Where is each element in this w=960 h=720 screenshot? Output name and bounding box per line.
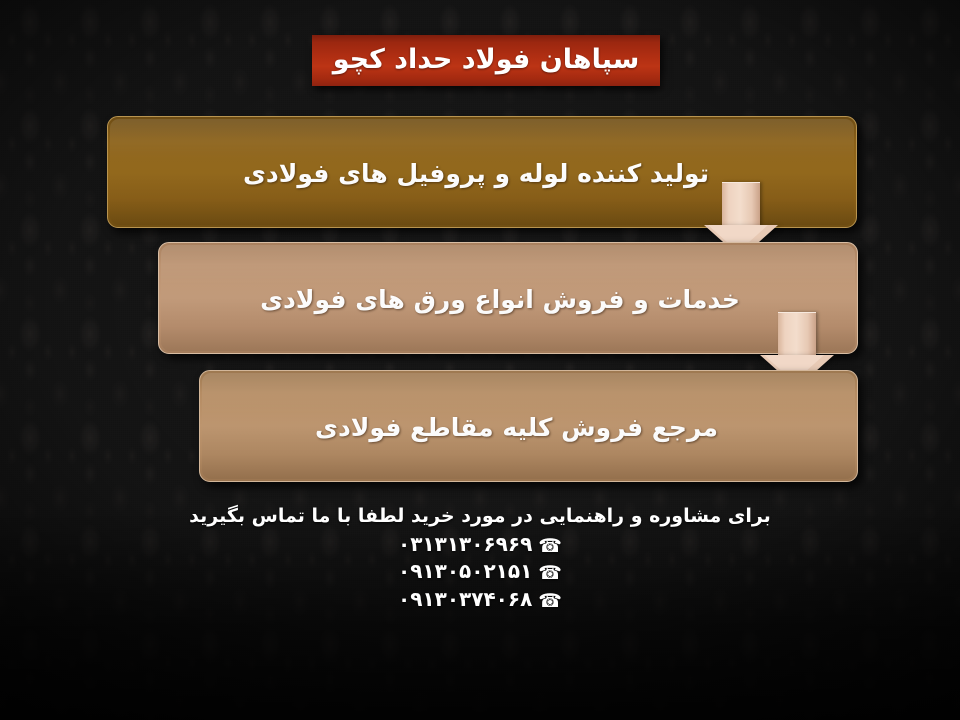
content-bar-3-label: مرجع فروش کلیه مقاطع فولادی bbox=[315, 414, 718, 443]
phone-number-item-2: ۰۹۱۳۰۵۰۲۱۵۱☎ bbox=[0, 558, 960, 586]
phone-number-item-3: ۰۹۱۳۰۳۷۴۰۶۸☎ bbox=[0, 586, 960, 614]
arrow-shaft bbox=[778, 312, 816, 356]
phone-number-list: ۰۳۱۳۱۳۰۶۹۶۹☎ ۰۹۱۳۰۵۰۲۱۵۱☎ ۰۹۱۳۰۳۷۴۰۶۸☎ bbox=[0, 531, 960, 614]
content-bar-2-label: خدمات و فروش انواع ورق های فولادی bbox=[260, 286, 740, 315]
slide-canvas: سپاهان فولاد حداد کچو تولید کننده لوله و… bbox=[0, 0, 960, 720]
content-bar-2: خدمات و فروش انواع ورق های فولادی bbox=[158, 242, 858, 354]
telephone-icon: ☎ bbox=[538, 562, 562, 584]
content-bar-1-label: تولید کننده لوله و پروفیل های فولادی bbox=[243, 160, 709, 189]
page-title: سپاهان فولاد حداد کچو bbox=[333, 46, 640, 73]
title-banner: سپاهان فولاد حداد کچو bbox=[312, 35, 660, 86]
content-bar-3: مرجع فروش کلیه مقاطع فولادی bbox=[199, 370, 858, 482]
phone-number-1: ۰۳۱۳۱۳۰۶۹۶۹ bbox=[398, 532, 532, 556]
phone-number-3: ۰۹۱۳۰۳۷۴۰۶۸ bbox=[398, 587, 532, 611]
phone-number-2: ۰۹۱۳۰۵۰۲۱۵۱ bbox=[398, 559, 532, 583]
contact-lead-text: برای مشاوره و راهنمایی در مورد خرید لطفا… bbox=[0, 504, 960, 530]
telephone-icon: ☎ bbox=[538, 535, 562, 557]
phone-number-item-1: ۰۳۱۳۱۳۰۶۹۶۹☎ bbox=[0, 531, 960, 559]
telephone-icon: ☎ bbox=[538, 590, 562, 612]
arrow-shaft bbox=[722, 182, 760, 226]
contact-footer: برای مشاوره و راهنمایی در مورد خرید لطفا… bbox=[0, 504, 960, 614]
